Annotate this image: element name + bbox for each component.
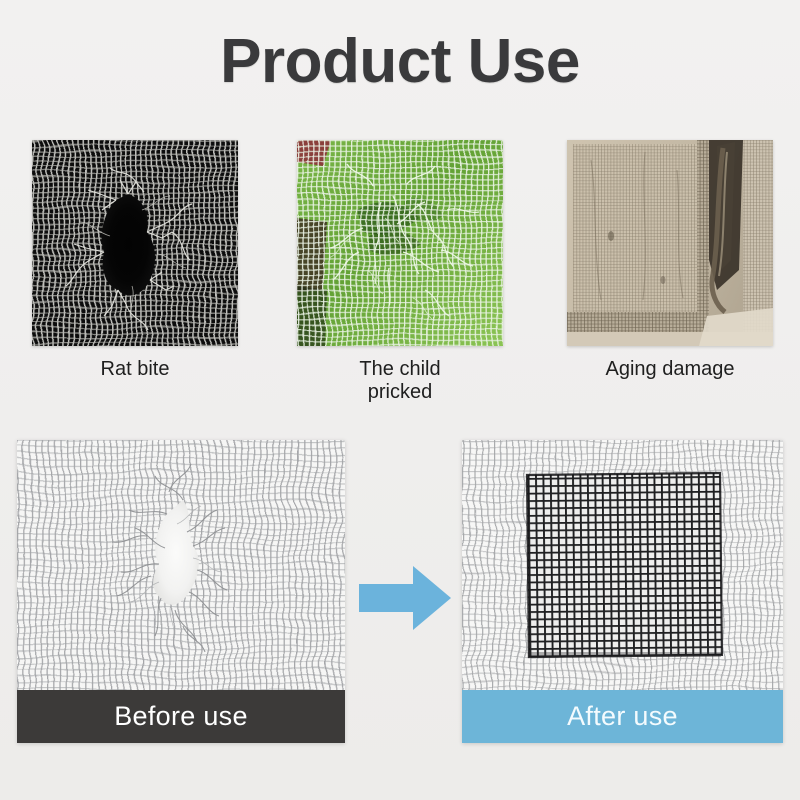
page-title: Product Use xyxy=(0,26,800,97)
damage-example-caption: The child pricked xyxy=(297,358,503,404)
damage-example-caption: Rat bite xyxy=(32,358,238,381)
after-use-panel: After use xyxy=(462,440,783,743)
damage-caption-line1: The child xyxy=(359,358,440,380)
infographic-page: Product Use xyxy=(0,0,800,800)
white-mesh-screen-with-black-repair-patch-image xyxy=(462,440,783,690)
before-use-label-band: Before use xyxy=(17,690,345,743)
damage-caption-line2: pricked xyxy=(368,381,432,403)
damage-example-card: Aging damage xyxy=(567,140,773,381)
white-mesh-screen-with-torn-hole-image xyxy=(17,440,345,690)
before-use-panel: Before use xyxy=(17,440,345,743)
damage-caption-line1: Rat bite xyxy=(101,358,170,380)
after-use-label-band: After use xyxy=(462,690,783,743)
right-arrow-icon xyxy=(355,558,455,638)
damage-example-caption: Aging damage xyxy=(567,358,773,381)
aged-beige-window-screen-frame-damage-image xyxy=(567,140,773,346)
damage-example-card: Rat bite xyxy=(32,140,238,381)
green-background-window-screen-torn-image xyxy=(297,140,503,346)
damage-caption-line1: Aging damage xyxy=(606,358,735,380)
damage-example-card: The child pricked xyxy=(297,140,503,404)
damage-examples-row: Rat bite xyxy=(0,140,800,400)
dark-mesh-screen-with-chewed-hole-image xyxy=(32,140,238,346)
